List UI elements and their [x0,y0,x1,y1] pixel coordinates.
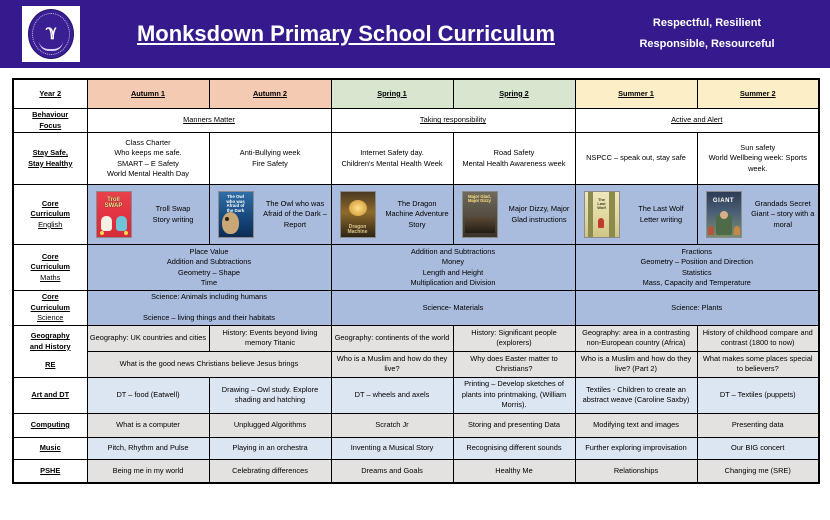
term-header-summer-2[interactable]: Summer 2 [697,79,819,109]
term-header-autumn-2[interactable]: Autumn 2 [209,79,331,109]
curriculum-table: Year 2 Autumn 1 Autumn 2 Spring 1 Spring… [12,78,820,484]
english-cell-spring-2: Major Glad,Major Dizzy Major Dizzy, Majo… [453,185,575,245]
geography-history-autumn-1: Geography: UK countries and cities [87,325,209,351]
computing-spring-2: Storing and presenting Data [453,413,575,437]
row-label-geography-history-re: Geography and History RE [13,325,87,377]
term-header-spring-2[interactable]: Spring 2 [453,79,575,109]
row-label-line-1: Core [42,199,59,208]
row-label-music: Music [13,437,87,459]
row-label-line-1: Stay Safe, [33,148,68,157]
motto-line-1: Respectful, Resilient [592,13,822,34]
book-cover-grandads-secret-giant: GIANT [706,191,742,238]
english-text-autumn-1: Troll Swap Story writing [140,204,207,225]
table-row-maths: Core Curriculum Maths Place Value Additi… [13,245,819,291]
stay-safe-autumn-1: Class Charter Who keeps me safe. SMART –… [87,133,209,185]
row-label-maths: Core Curriculum Maths [13,245,87,291]
row-label-line-2: Curriculum [31,303,70,312]
row-label-behaviour-focus: Behaviour Focus [13,109,87,133]
row-label-line-1: Geography [31,331,70,340]
motto-line-2: Responsible, Resourceful [592,34,822,55]
pshe-autumn-2: Celebrating differences [209,459,331,483]
pshe-summer-2: Changing me (SRE) [697,459,819,483]
row-label-line-3: Maths [40,273,60,282]
book-cover-major-glad-major-dizzy: Major Glad,Major Dizzy [462,191,498,238]
art-dt-autumn-2: Drawing – Owl study. Explore shading and… [209,377,331,413]
geography-history-spring-1: Geography: continents of the world [331,325,453,351]
row-label-line-1: Core [42,292,59,301]
art-dt-summer-1: Textiles - Children to create an abstrac… [575,377,697,413]
table-row-stay-safe: Stay Safe, Stay Healthy Class Charter Wh… [13,133,819,185]
row-label-science: Core Curriculum Science [13,291,87,326]
music-autumn-1: Pitch, Rhythm and Pulse [87,437,209,459]
row-label-english: Core Curriculum English [13,185,87,245]
pshe-autumn-1: Being me in my world [87,459,209,483]
pshe-spring-1: Dreams and Goals [331,459,453,483]
stay-safe-summer-1: NSPCC – speak out, stay safe [575,133,697,185]
term-header-autumn-1[interactable]: Autumn 1 [87,79,209,109]
row-label-line-1: Core [42,252,59,261]
table-row-art-dt: Art and DT DT – food (Eatwell) Drawing –… [13,377,819,413]
computing-autumn-2: Unplugged Algorithms [209,413,331,437]
english-text-spring-1: The Dragon Machine Adventure Story [384,199,451,231]
row-label-line-2: Curriculum [31,209,70,218]
science-autumn: Science: Animals including humans Scienc… [87,291,331,326]
term-header-summer-1[interactable]: Summer 1 [575,79,697,109]
row-label-stay-safe: Stay Safe, Stay Healthy [13,133,87,185]
music-summer-2: Our BIG concert [697,437,819,459]
page-title: Monksdown Primary School Curriculum [80,21,592,47]
row-label-art-dt: Art and DT [13,377,87,413]
table-row-pshe: PSHE Being me in my world Celebrating di… [13,459,819,483]
geography-history-spring-2: History: Significant people (explorers) [453,325,575,351]
behaviour-focus-summer: Active and Alert [575,109,819,133]
science-spring: Science- Materials [331,291,575,326]
english-text-autumn-2: The Owl who was Afraid of the Dark – Rep… [262,199,329,231]
page-banner: ℽ Monksdown Primary School Curriculum Re… [0,0,830,68]
stay-safe-autumn-2: Anti-Bullying week Fire Safety [209,133,331,185]
music-spring-2: Recognising different sounds [453,437,575,459]
row-label-line-2: Focus [39,121,61,130]
row-label-line-3: Science [37,313,63,322]
school-crest-icon: ℽ [28,9,74,59]
english-cell-autumn-1: TrollSWAP Troll Swap Story writing [87,185,209,245]
table-row-english: Core Curriculum English TrollSWAP Troll … [13,185,819,245]
re-spring-1: Who is a Muslim and how do they live? [331,351,453,377]
book-cover-dragon-machine: DragonMachine [340,191,376,238]
row-label-re: RE [45,360,55,369]
geography-history-summer-1: Geography: area in a contrasting non-Eur… [575,325,697,351]
stay-safe-spring-2: Road Safety Mental Health Awareness week [453,133,575,185]
book-cover-the-last-wolf: TheLastWolf [584,191,620,238]
school-logo: ℽ [22,6,80,62]
computing-autumn-1: What is a computer [87,413,209,437]
english-text-summer-2: Grandads Secret Giant – story with a mor… [750,199,817,231]
table-row-geography-history: Geography and History RE Geography: UK c… [13,325,819,351]
music-spring-1: Inventing a Musical Story [331,437,453,459]
computing-summer-1: Modifying text and images [575,413,697,437]
row-label-line-2: and History [30,342,71,351]
re-summer-1: Who is a Muslim and how do they live? (P… [575,351,697,377]
row-label-pshe: PSHE [13,459,87,483]
book-cover-troll-swap: TrollSWAP [96,191,132,238]
year-label: Year 2 [13,79,87,109]
table-row-science: Core Curriculum Science Science: Animals… [13,291,819,326]
geography-history-summer-2: History of childhood compare and contras… [697,325,819,351]
maths-spring: Addition and Subtractions Money Length a… [331,245,575,291]
table-row-re: What is the good news Christians believe… [13,351,819,377]
school-motto: Respectful, Resilient Responsible, Resou… [592,13,830,55]
term-header-spring-1[interactable]: Spring 1 [331,79,453,109]
english-cell-summer-2: GIANT Grandads Secret Giant – story with… [697,185,819,245]
art-dt-autumn-1: DT – food (Eatwell) [87,377,209,413]
pshe-summer-1: Relationships [575,459,697,483]
re-spring-2: Why does Easter matter to Christians? [453,351,575,377]
table-row-music: Music Pitch, Rhythm and Pulse Playing in… [13,437,819,459]
computing-spring-1: Scratch Jr [331,413,453,437]
english-text-spring-2: Major Dizzy, Major Glad instructions [506,204,573,225]
english-cell-autumn-2: The Owlwho wasAfraid ofthe Dark The Owl … [209,185,331,245]
table-header-row: Year 2 Autumn 1 Autumn 2 Spring 1 Spring… [13,79,819,109]
row-label-line-2: Curriculum [31,262,70,271]
art-dt-spring-1: DT – wheels and axels [331,377,453,413]
music-summer-1: Further exploring improvisation [575,437,697,459]
maths-autumn: Place Value Addition and Subtractions Ge… [87,245,331,291]
science-summer: Science: Plants [575,291,819,326]
row-label-line-3: English [38,220,62,229]
english-text-summer-1: The Last Wolf Letter writing [628,204,695,225]
art-dt-summer-2: DT – Textiles (puppets) [697,377,819,413]
row-label-line-1: Behaviour [32,110,68,119]
behaviour-focus-autumn: Manners Matter [87,109,331,133]
pshe-spring-2: Healthy Me [453,459,575,483]
geography-history-autumn-2: History: Events beyond living memory Tit… [209,325,331,351]
stay-safe-summer-2: Sun safety World Wellbeing week: Sports … [697,133,819,185]
table-row-computing: Computing What is a computer Unplugged A… [13,413,819,437]
stay-safe-spring-1: Internet Safety day. Children's Mental H… [331,133,453,185]
row-label-line-2: Stay Healthy [28,159,72,168]
computing-summer-2: Presenting data [697,413,819,437]
book-cover-owl-afraid-dark: The Owlwho wasAfraid ofthe Dark [218,191,254,238]
row-label-computing: Computing [13,413,87,437]
music-autumn-2: Playing in an orchestra [209,437,331,459]
english-cell-spring-1: DragonMachine The Dragon Machine Adventu… [331,185,453,245]
table-row-behaviour-focus: Behaviour Focus Manners Matter Taking re… [13,109,819,133]
english-cell-summer-1: TheLastWolf The Last Wolf Letter writing [575,185,697,245]
re-autumn: What is the good news Christians believe… [87,351,331,377]
behaviour-focus-spring: Taking responsibility [331,109,575,133]
art-dt-spring-2: Printing – Develop sketches of plants in… [453,377,575,413]
re-summer-2: What makes some places special to believ… [697,351,819,377]
maths-summer: Fractions Geometry – Position and Direct… [575,245,819,291]
curriculum-grid-wrapper: Year 2 Autumn 1 Autumn 2 Spring 1 Spring… [0,68,830,484]
